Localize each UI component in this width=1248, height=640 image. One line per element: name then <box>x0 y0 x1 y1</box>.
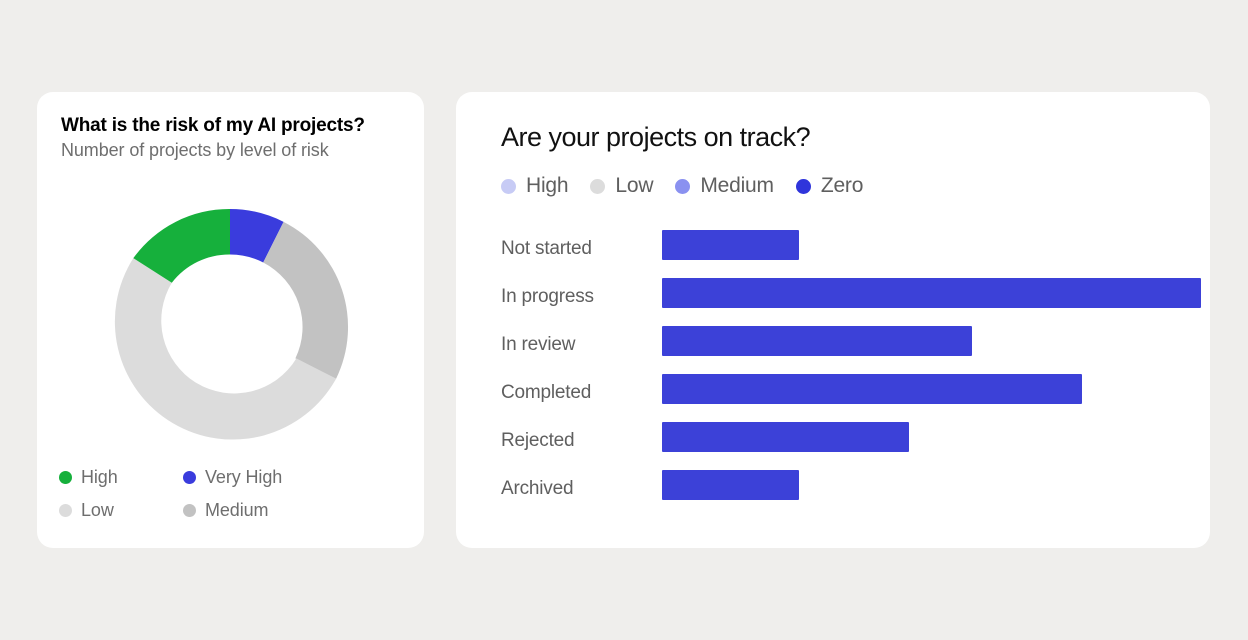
legend-label-very-high: Very High <box>205 467 282 488</box>
bar-row: In progress <box>501 278 1201 326</box>
risk-chart-card: What is the risk of my AI projects? Numb… <box>37 92 424 548</box>
bar-track <box>662 278 1201 308</box>
bar-fill[interactable] <box>662 230 799 260</box>
legend-label-medium: Medium <box>205 500 268 521</box>
track-legend-label-medium: Medium <box>700 174 774 198</box>
projects-on-track-card: Are your projects on track? High Low Med… <box>456 92 1210 548</box>
legend-label-high: High <box>81 467 118 488</box>
bar-row-label: In progress <box>501 286 594 308</box>
legend-dot-high-icon <box>59 471 72 484</box>
bar-fill[interactable] <box>662 422 909 452</box>
bar-track <box>662 422 1201 452</box>
track-legend-dot-medium-icon <box>675 179 690 194</box>
donut-svg <box>105 202 355 452</box>
bar-fill[interactable] <box>662 326 972 356</box>
legend-dot-very-high-icon <box>183 471 196 484</box>
track-legend-dot-high-icon <box>501 179 516 194</box>
legend-dot-low-icon <box>59 504 72 517</box>
track-legend-item-medium[interactable]: Medium <box>675 174 774 198</box>
legend-label-low: Low <box>81 500 114 521</box>
track-legend-label-low: Low <box>615 174 653 198</box>
track-legend: High Low Medium Zero <box>501 174 885 198</box>
legend-item-high[interactable]: High <box>59 467 183 488</box>
bar-row: Not started <box>501 230 1201 278</box>
risk-legend: High Very High Low Medium <box>59 467 399 521</box>
dashboard-root: What is the risk of my AI projects? Numb… <box>0 0 1248 640</box>
bar-track <box>662 374 1201 404</box>
bar-row: Completed <box>501 374 1201 422</box>
track-legend-dot-low-icon <box>590 179 605 194</box>
legend-dot-medium-icon <box>183 504 196 517</box>
bar-row: Rejected <box>501 422 1201 470</box>
track-legend-item-zero[interactable]: Zero <box>796 174 863 198</box>
risk-card-subtitle: Number of projects by level of risk <box>61 140 329 161</box>
bar-row-label: Completed <box>501 382 591 404</box>
bar-row-label: In review <box>501 334 575 356</box>
bar-row-label: Rejected <box>501 430 574 452</box>
legend-item-very-high[interactable]: Very High <box>183 467 399 488</box>
track-legend-item-high[interactable]: High <box>501 174 568 198</box>
track-legend-item-low[interactable]: Low <box>590 174 653 198</box>
legend-item-medium[interactable]: Medium <box>183 500 399 521</box>
bar-track <box>662 230 1201 260</box>
bar-fill[interactable] <box>662 470 799 500</box>
bar-fill[interactable] <box>662 374 1082 404</box>
bar-row-label: Not started <box>501 238 592 260</box>
track-legend-dot-zero-icon <box>796 179 811 194</box>
track-legend-label-high: High <box>526 174 568 198</box>
track-card-title: Are your projects on track? <box>501 122 810 153</box>
bar-row: In review <box>501 326 1201 374</box>
bar-row-label: Archived <box>501 478 573 500</box>
risk-card-title: What is the risk of my AI projects? <box>61 115 365 137</box>
risk-donut-chart <box>105 202 355 452</box>
bar-track <box>662 326 1201 356</box>
legend-item-low[interactable]: Low <box>59 500 183 521</box>
bar-fill[interactable] <box>662 278 1201 308</box>
bar-row: Archived <box>501 470 1201 518</box>
status-bar-chart: Not startedIn progressIn reviewCompleted… <box>501 230 1201 518</box>
bar-track <box>662 470 1201 500</box>
track-legend-label-zero: Zero <box>821 174 863 198</box>
donut-segment-medium[interactable] <box>263 222 348 379</box>
